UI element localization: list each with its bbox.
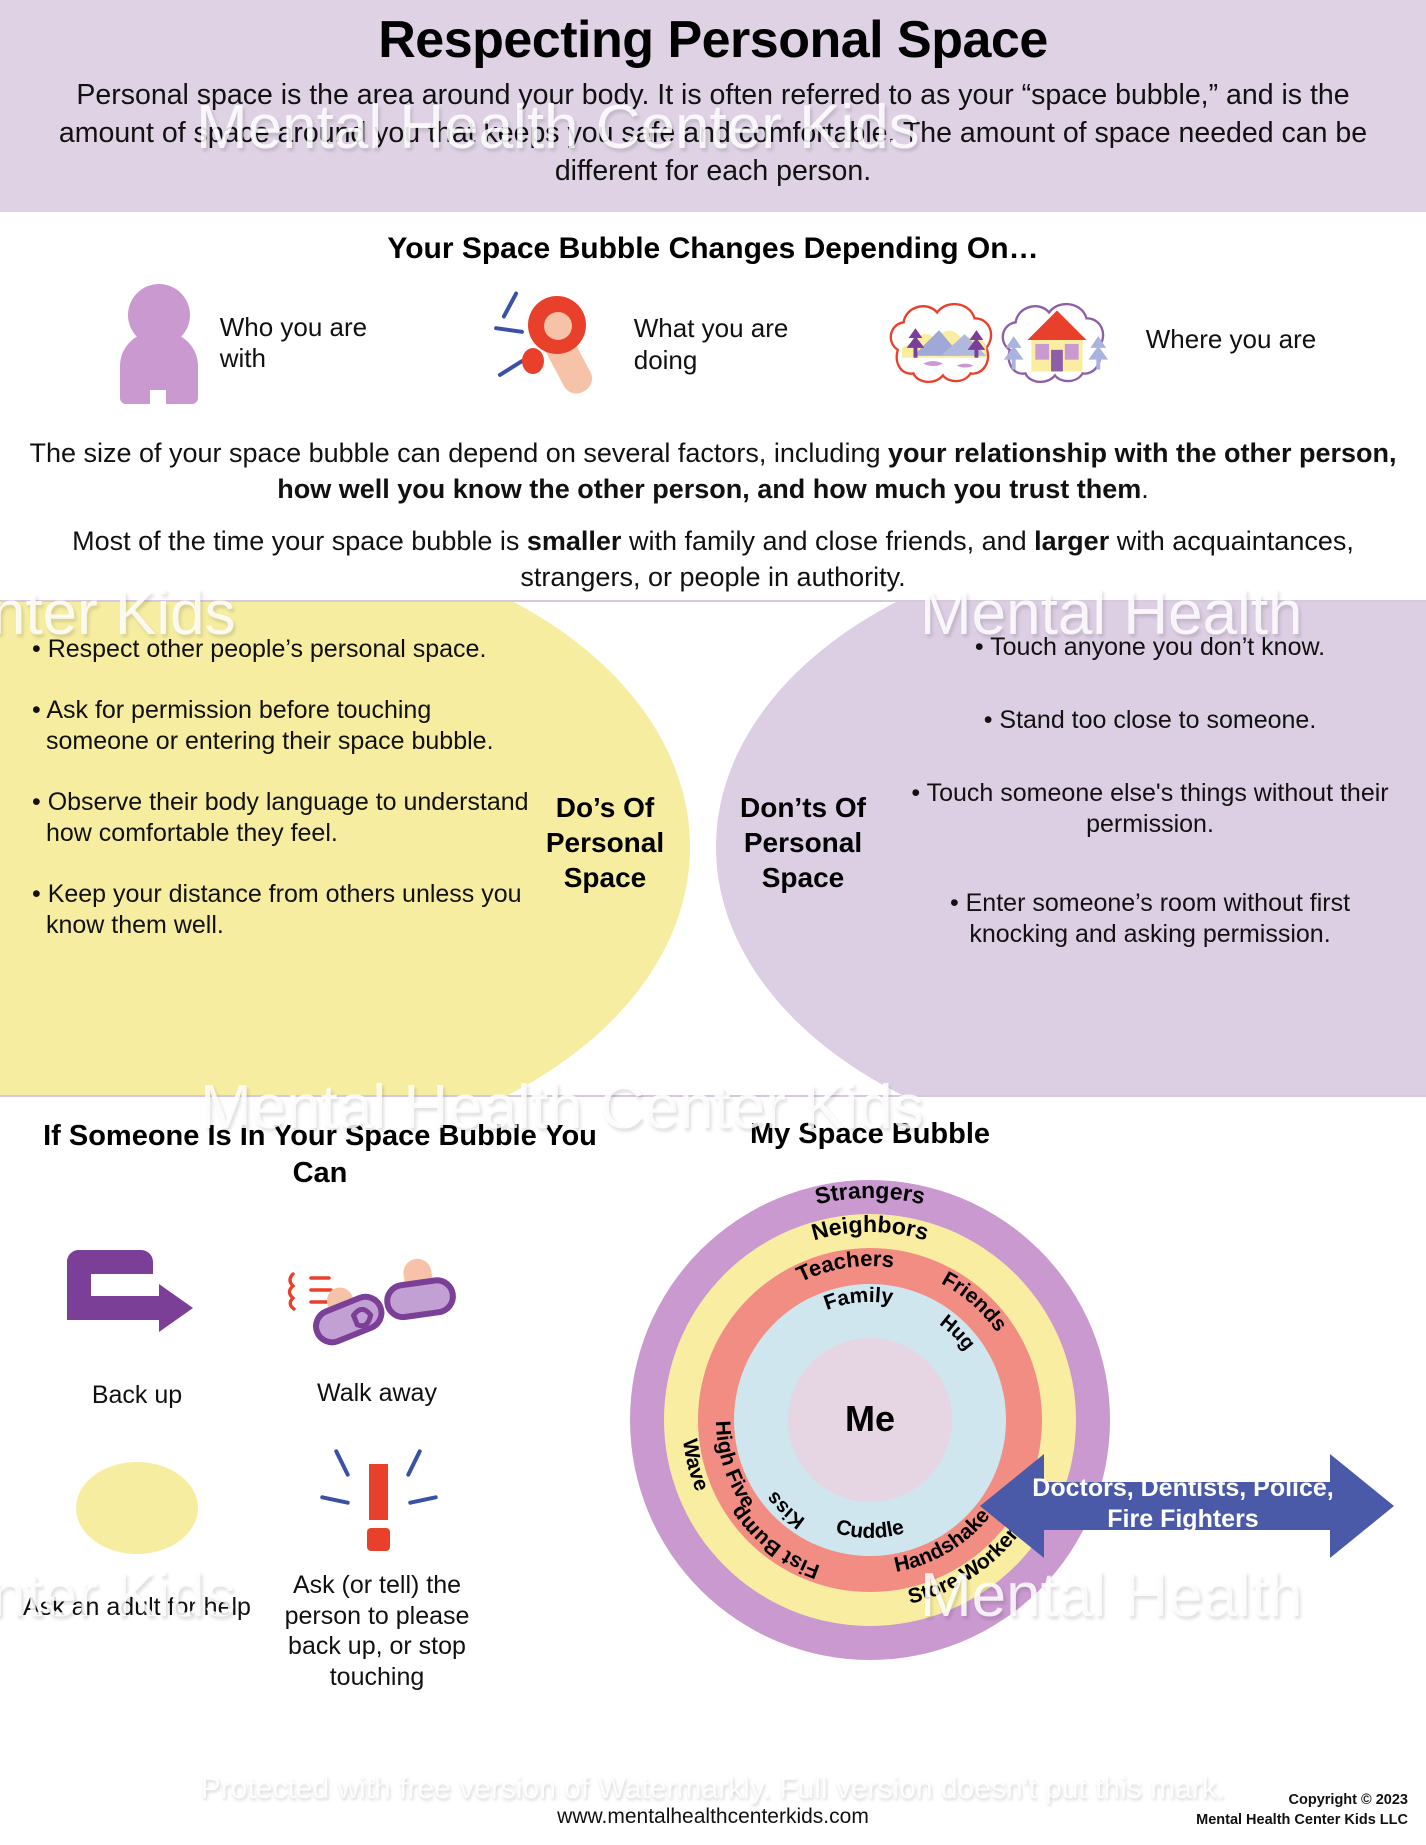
para2-smaller: smaller: [527, 526, 622, 556]
intro-paragraph: Personal space is the area around your b…: [22, 77, 1404, 191]
person-icon: [110, 282, 206, 404]
para2-larger: larger: [1034, 526, 1109, 556]
list-item: • Observe their body language to underst…: [32, 787, 532, 849]
factors-row: Who you are with What you are doing: [0, 282, 1426, 422]
arc-label-high-five: High Five: [711, 1420, 760, 1512]
factor-what-you-are-doing: What you are doing: [470, 282, 824, 407]
para2-part3: with family and close friends, and: [621, 526, 1034, 556]
list-item: • Stand too close to someone.: [900, 705, 1400, 736]
snapping-hand-icon: [470, 282, 620, 407]
footer-copyright: Copyright © 2023 Mental Health Center Ki…: [1196, 1790, 1408, 1831]
option-label: Ask (or tell) the person to please back …: [262, 1570, 492, 1692]
factor-label: What you are doing: [634, 313, 824, 375]
copyright-line-2: Mental Health Center Kids LLC: [1196, 1810, 1408, 1830]
para1-part1: The size of your space bubble can depend…: [29, 438, 888, 468]
venn-diagram: Do’s Of Personal Space Don’ts Of Persona…: [0, 600, 1426, 1097]
factor-label: Where you are: [1146, 324, 1317, 355]
arc-label-kiss: Kiss: [762, 1487, 809, 1533]
list-item: • Touch someone else's things without th…: [900, 778, 1400, 840]
outdoors-cloud-icon: [884, 290, 1002, 390]
list-item: • Touch anyone you don’t know.: [900, 632, 1400, 663]
list-item: • Ask for permission before touching som…: [32, 695, 532, 757]
arc-label-family: Family: [821, 1284, 895, 1315]
factor-who-you-are-with: Who you are with: [110, 282, 410, 404]
option-label: Walk away: [262, 1378, 492, 1409]
list-item: • Respect other people’s personal space.: [32, 634, 532, 665]
factors-paragraph: The size of your space bubble can depend…: [0, 436, 1426, 507]
speech-blob-icon: [76, 1462, 198, 1554]
dos-list: • Respect other people’s personal space.…: [32, 634, 532, 971]
option-back-up: Back up: [22, 1230, 252, 1411]
para2-part1: Most of the time your space bubble is: [72, 526, 527, 556]
feet-svg: [285, 1248, 470, 1348]
option-ask-person-to-back-up: Ask (or tell) the person to please back …: [262, 1430, 492, 1692]
bubble-center-label: Me: [788, 1398, 952, 1440]
arc-label-hug: Hug: [936, 1311, 980, 1355]
walking-feet-icon: [285, 1248, 470, 1348]
option-ask-an-adult: Ask an adult for help: [22, 1440, 252, 1623]
arc-label-teachers: Teachers: [793, 1246, 896, 1287]
space-bubble-heading: My Space Bubble: [620, 1118, 1120, 1151]
factors-heading: Your Space Bubble Changes Depending On…: [0, 232, 1426, 266]
exclamation-icon: [312, 1440, 442, 1550]
factor-label: Who you are with: [220, 312, 410, 374]
arc-label-wave: Wave: [678, 1437, 713, 1494]
arc-label-strangers: Strangers: [812, 1180, 927, 1209]
option-label: Ask an adult for help: [22, 1592, 252, 1623]
size-paragraph: Most of the time your space bubble is sm…: [0, 524, 1426, 595]
option-walk-away: Walk away: [262, 1230, 492, 1409]
list-item: • Enter someone’s room without first kno…: [900, 888, 1400, 950]
if-someone-heading: If Someone Is In Your Space Bubble You C…: [40, 1118, 600, 1192]
copyright-line-1: Copyright © 2023: [1196, 1790, 1408, 1810]
donts-list: • Touch anyone you don’t know. • Stand t…: [900, 632, 1400, 980]
arc-label-cuddle: Cuddle: [834, 1515, 907, 1543]
para1-part3: .: [1141, 474, 1149, 504]
dos-heading: Do’s Of Personal Space: [520, 790, 690, 895]
u-turn-arrow-icon: [67, 1250, 207, 1342]
house-cloud-icon: [996, 290, 1114, 390]
space-bubble-diagram: Strangers Neighbors Teachers Family Frie…: [630, 1180, 1110, 1660]
arc-label-neighbors: Neighbors: [809, 1211, 932, 1245]
factor-where-you-are: Where you are: [884, 282, 1317, 397]
option-label: Back up: [22, 1380, 252, 1411]
header-banner: Respecting Personal Space Personal space…: [0, 0, 1426, 212]
list-item: • Keep your distance from others unless …: [32, 879, 532, 941]
donts-heading: Don’ts Of Personal Space: [718, 790, 888, 895]
places-clouds-icon: [884, 282, 1132, 397]
doctors-double-arrow: [980, 1448, 1394, 1564]
page-title: Respecting Personal Space: [22, 8, 1404, 69]
infographic-page: Respecting Personal Space Personal space…: [0, 0, 1426, 1845]
